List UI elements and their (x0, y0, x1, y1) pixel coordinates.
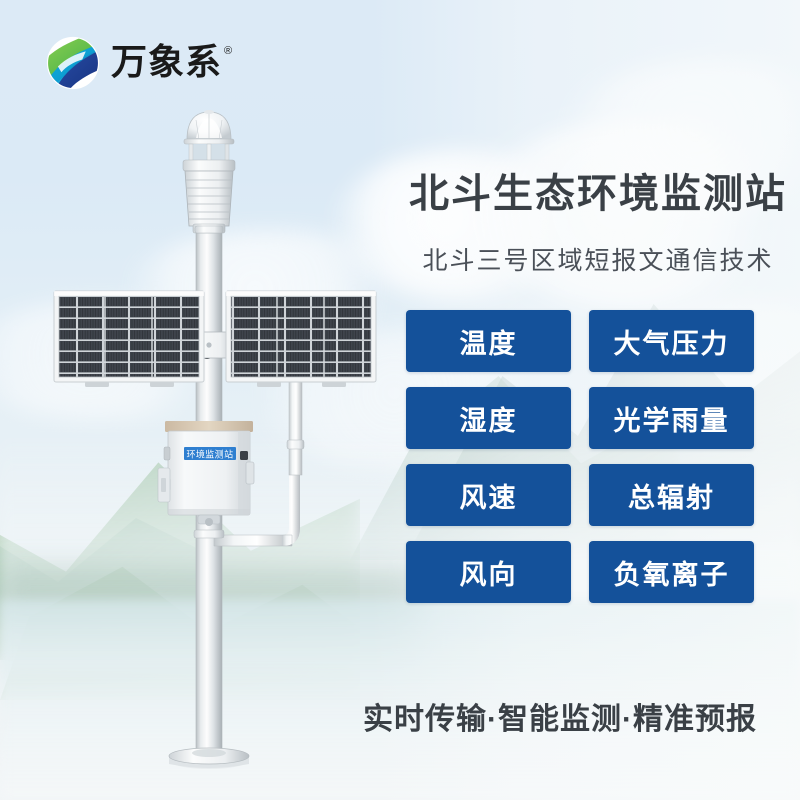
feature-tag-grid: 温度 大气压力 湿度 光学雨量 风速 总辐射 风向 负氧离子 (406, 310, 754, 603)
feature-tag-optical-rain[interactable]: 光学雨量 (589, 387, 754, 449)
feature-tag-total-radiation[interactable]: 总辐射 (589, 464, 754, 526)
promo-banner: 万象系 ® (0, 0, 800, 800)
ultrasonic-weather-sensor-icon (183, 110, 235, 171)
page-subtitle: 北斗三号区域短报文通信技术 (400, 246, 796, 276)
feature-tag-negative-oxygen-ions[interactable]: 负氧离子 (589, 541, 754, 603)
solar-panel-icon (54, 291, 204, 387)
feature-tag-temperature[interactable]: 温度 (406, 310, 571, 372)
content-panel: 北斗生态环境监测站 北斗三号区域短报文通信技术 温度 大气压力 湿度 光学雨量 … (396, 0, 800, 800)
feature-tag-wind-speed[interactable]: 风速 (406, 464, 571, 526)
control-cabinet-icon: 环境监测站 (158, 421, 254, 526)
page-title: 北斗生态环境监测站 (400, 172, 796, 216)
feature-tag-air-pressure[interactable]: 大气压力 (589, 310, 754, 372)
feature-tag-wind-direction[interactable]: 风向 (406, 541, 571, 603)
solar-panel-icon (226, 291, 376, 387)
footer-tagline: 实时传输·智能监测·精准预报 (350, 694, 770, 738)
base-flange-icon (169, 748, 249, 769)
cabinet-label-text: 环境监测站 (186, 448, 233, 460)
weather-station-product-image: 环境监测站 (0, 0, 420, 800)
feature-tag-humidity[interactable]: 湿度 (406, 387, 571, 449)
radiation-shield-icon (185, 171, 233, 233)
